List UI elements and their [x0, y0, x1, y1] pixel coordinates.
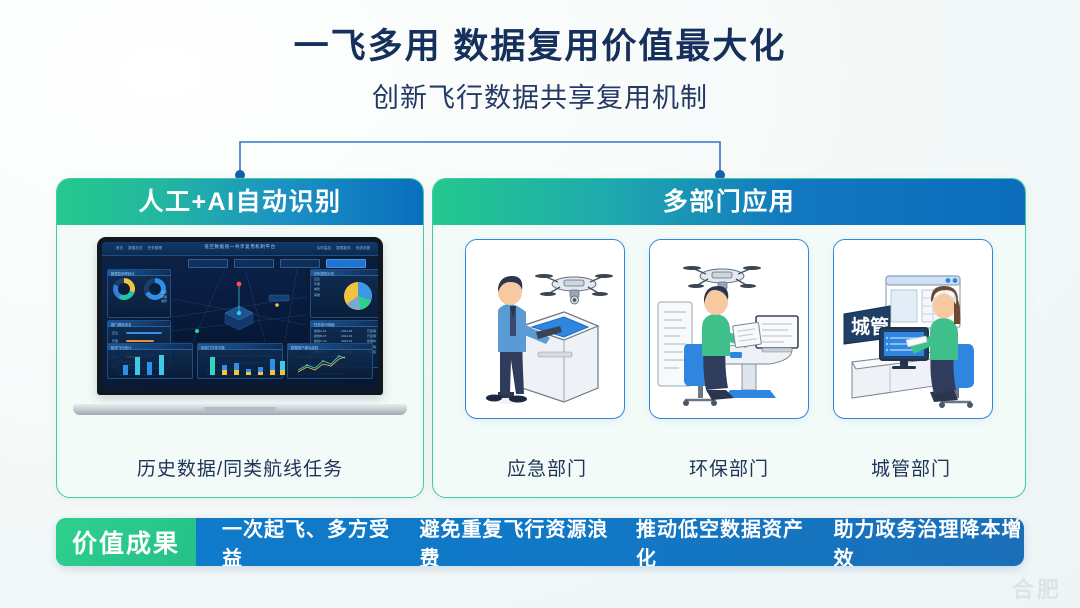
dashboard-nav-right[interactable]: 实时监控 数据复用 系统设置 [317, 246, 370, 251]
tab-data-archive[interactable] [280, 259, 320, 268]
department-card-row: drone-dock-operator-illustration [453, 239, 1005, 419]
bar-chart-share [200, 351, 288, 377]
department-card-city-management[interactable]: 城管 [833, 239, 993, 419]
panel-right-body: drone-dock-operator-illustration [433, 225, 1025, 497]
card-asset-growth: 数据资产增长曲线 [287, 343, 373, 379]
dashboard-bottom-charts: 航线飞行统计 [107, 343, 373, 379]
card-title: 部门调用排名 [111, 322, 131, 327]
panel-right-heading: 多部门应用 [433, 179, 1025, 225]
distribution-table: 应急 环保 城管 其他 [314, 277, 376, 298]
dashboard-screen: 低空数据统一共享复用机制平台 首页 数据总览 任务管理 实时监控 数据复用 系统… [102, 242, 378, 390]
rank-label: 应急 [112, 331, 123, 335]
card-title: 航线飞行统计 [111, 345, 131, 350]
value-bar-label: 价值成果 [56, 518, 196, 566]
card-title: 数据复用率统计 [111, 271, 135, 276]
bar-chart-flight [110, 351, 168, 377]
table-row: 其他 [314, 293, 376, 298]
dashboard-tabs[interactable] [188, 259, 366, 268]
cell: 其他 [314, 293, 320, 298]
rank-bar [126, 340, 154, 343]
nav-item[interactable]: 数据复用 [336, 246, 350, 251]
drone-dock [522, 312, 598, 402]
line-chart-growth [290, 351, 348, 377]
nav-item[interactable]: 实时监控 [317, 246, 331, 251]
tab-route-task[interactable] [188, 259, 228, 268]
donut-chart-reuse [113, 278, 135, 300]
legend-item: 应急 [161, 290, 167, 295]
value-outcome-bar: 价值成果 一次起飞、多方受益 避免重复飞行资源浪费 推动低空数据资产化 助力政务… [56, 518, 1024, 566]
card-type-distribution: 识别类型分布 应急 环保 城管 其他 [310, 269, 378, 318]
card-share-count: 多部门共享次数 [197, 343, 283, 379]
card-reuse-rate: 数据复用率统计 应急 环保 城管 [107, 269, 171, 318]
value-bar-items: 一次起飞、多方受益 避免重复飞行资源浪费 推动低空数据资产化 助力政务治理降本增… [196, 518, 1024, 566]
nav-item[interactable]: 数据总览 [128, 246, 142, 251]
page-title: 一飞多用 数据复用价值最大化 [0, 18, 1080, 69]
tab-ai-recognition[interactable] [234, 259, 274, 268]
watermark: 合肥 [1012, 572, 1062, 604]
drone-dock-operator-illustration [466, 240, 622, 416]
panel-multi-department: 多部门应用 [432, 178, 1026, 498]
monitor [756, 316, 798, 352]
value-item: 助力政务治理降本增效 [833, 518, 1024, 566]
department-card-environment[interactable]: desk-analyst-drone-illustration [649, 239, 809, 419]
card-title: 多部门共享次数 [201, 345, 225, 350]
value-item: 一次起飞、多方受益 [222, 518, 393, 566]
left-panel-caption: 历史数据/同类航线任务 [57, 454, 423, 481]
legend-item: 城管 [161, 299, 167, 304]
map-3d-view[interactable] [173, 269, 306, 341]
panel-left-heading: 人工+AI自动识别 [57, 179, 423, 225]
nav-item[interactable]: 系统设置 [356, 246, 370, 251]
department-labels: 应急部门 环保部门 城管部门 [433, 454, 1025, 481]
panel-left-body: 低空数据统一共享复用机制平台 首页 数据总览 任务管理 实时监控 数据复用 系统… [57, 225, 423, 497]
dept-label-city-management: 城管部门 [832, 454, 990, 481]
department-card-emergency[interactable]: drone-dock-operator-illustration [465, 239, 625, 419]
desk-analyst-drone-illustration [650, 240, 806, 416]
dashboard-nav-left[interactable]: 首页 数据总览 任务管理 [116, 246, 162, 251]
dashboard-title: 低空数据统一共享复用机制平台 [204, 244, 275, 250]
nav-item[interactable]: 首页 [116, 246, 123, 251]
laptop-lid: 低空数据统一共享复用机制平台 首页 数据总览 任务管理 实时监控 数据复用 系统… [97, 237, 383, 395]
card-flight-stats: 航线飞行统计 [107, 343, 193, 379]
value-item: 推动低空数据资产化 [636, 518, 807, 566]
page-subtitle: 创新飞行数据共享复用机制 [0, 76, 1080, 115]
slide-canvas: 一飞多用 数据复用价值最大化 创新飞行数据共享复用机制 人工+AI自动识别 低空… [0, 0, 1080, 608]
card-title: 识别类型分布 [314, 271, 334, 276]
bracket-connector [200, 128, 760, 184]
office-monitor-worker-illustration: 城管 [834, 240, 990, 416]
donut-legend: 应急 环保 城管 [161, 290, 167, 304]
panel-ai-recognition: 人工+AI自动识别 低空数据统一共享复用机制平台 首页 数据总览 任务管理 实时… [56, 178, 424, 498]
tab-reuse-result[interactable] [326, 259, 366, 268]
laptop-notch [204, 407, 276, 411]
laptop-illustration: 低空数据统一共享复用机制平台 首页 数据总览 任务管理 实时监控 数据复用 系统… [73, 237, 407, 427]
dept-label-environment: 环保部门 [650, 454, 808, 481]
dept-label-emergency: 应急部门 [468, 454, 626, 481]
rank-bar [126, 332, 162, 335]
rank-row: 应急 [112, 331, 166, 335]
nav-item[interactable]: 任务管理 [148, 246, 162, 251]
value-item: 避免重复飞行资源浪费 [419, 518, 610, 566]
card-title: 数据资产增长曲线 [291, 345, 318, 350]
card-title: 任务执行明细 [314, 322, 334, 327]
